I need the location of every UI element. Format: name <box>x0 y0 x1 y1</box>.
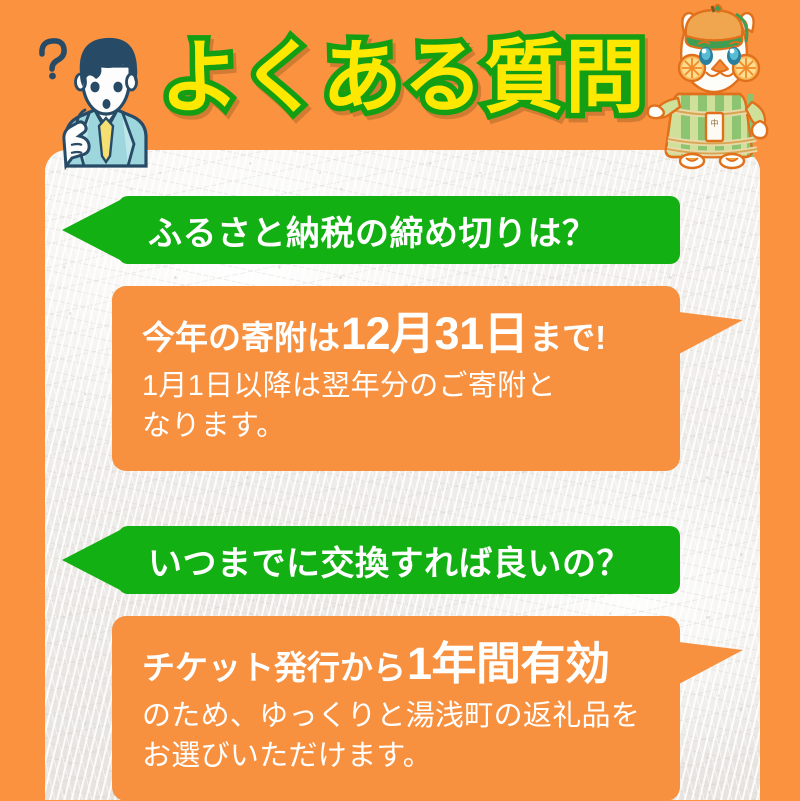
answer-lead-after-1: まで! <box>529 319 606 357</box>
question-mark-icon <box>42 41 64 80</box>
question-banner-1: ふるさと納税の締め切りは？ <box>118 196 680 264</box>
man-head <box>76 38 138 114</box>
answer-highlight-1: 12月31日 <box>341 308 528 360</box>
thinking-man-illustration <box>28 14 178 166</box>
question-text-1: ふるさと納税の締め切りは？ <box>148 206 597 255</box>
page-title: よくある質問 <box>178 34 628 122</box>
question-banner-2: いつまでに交換すれば良いの？ <box>118 526 680 594</box>
mascot-tag-label: 中 <box>711 118 719 128</box>
answer-box-tail <box>679 310 743 356</box>
cat-mascot-illustration: 中 <box>648 6 800 168</box>
question-banner-tail <box>62 526 120 594</box>
question-text-2: いつまでに交換すれば良いの？ <box>148 536 631 585</box>
answer-lead-2: チケット発行から 1年間有効 <box>142 638 654 690</box>
answer-highlight-2: 1年間有効 <box>407 638 610 690</box>
answer-box-tail <box>679 640 743 686</box>
answer-box-2: チケット発行から 1年間有効 のため、ゆっくりと湯浅町の返礼品を お選びいただけ… <box>112 616 680 801</box>
answer-lead-before-1: 今年の寄附は <box>142 319 340 357</box>
answer-detail-1: 1月1日以降は翌年分のご寄附と なります。 <box>142 366 654 447</box>
answer-box-1: 今年の寄附は 12月31日 まで! 1月1日以降は翌年分のご寄附と なります。 <box>112 286 680 471</box>
question-banner-tail <box>62 196 120 264</box>
answer-lead-before-2: チケット発行から <box>142 649 406 687</box>
answer-lead-1: 今年の寄附は 12月31日 まで! <box>142 308 654 360</box>
answer-detail-2: のため、ゆっくりと湯浅町の返礼品を お選びいただけます。 <box>142 696 654 777</box>
